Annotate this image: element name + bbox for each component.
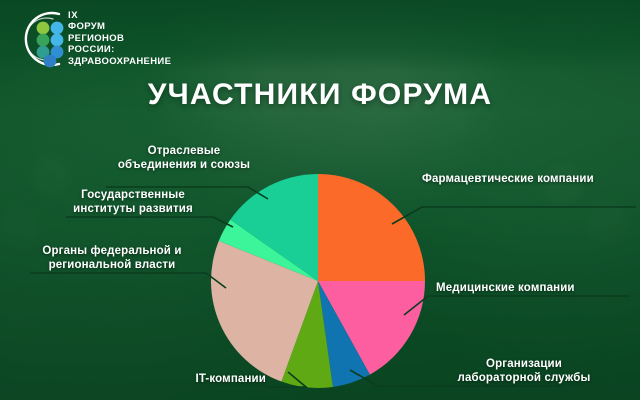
- leader-line-gov: [30, 273, 226, 288]
- callout-label-it: IT-компании: [116, 372, 266, 386]
- callout-label-unions: Отраслевые объединения и союзы: [98, 144, 270, 172]
- leader-line-institutes: [66, 217, 233, 227]
- callout-label-gov: Органы федеральной и региональной власти: [12, 244, 212, 272]
- callout-label-pharma: Фармацевтические компании: [422, 172, 636, 186]
- slide-canvas: IX ФОРУМ РЕГИОНОВ РОССИИ: ЗДРАВООХРАНЕНИ…: [0, 0, 640, 400]
- leader-line-medical: [404, 296, 630, 315]
- callout-label-lab: Организации лабораторной службы: [424, 357, 624, 385]
- callout-label-medical: Медицинские компании: [436, 281, 636, 295]
- leader-line-pharma: [392, 207, 636, 224]
- pie-slice-group: Фармацевтические компании — 25%Медицинск…: [211, 174, 425, 388]
- pie-slice[interactable]: Фармацевтические компании — 25%: [318, 174, 425, 281]
- callout-label-institutes: Государственные институты развития: [48, 188, 218, 216]
